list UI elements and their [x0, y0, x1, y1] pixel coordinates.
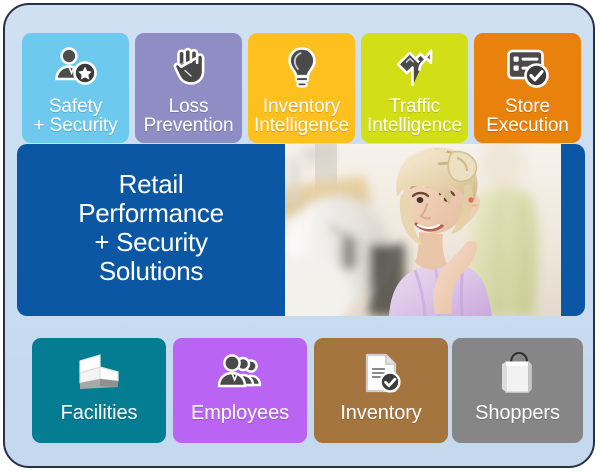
tile-loss-prevention[interactable]: Loss Prevention	[135, 33, 242, 143]
tile-employees[interactable]: Employees	[173, 338, 307, 443]
hero-photo	[285, 144, 561, 316]
tile-label: Safety + Security	[33, 97, 117, 136]
person-star-badge-icon	[51, 42, 101, 94]
checklist-check-icon	[503, 42, 553, 94]
hero-headline-block: Retail Performance + Security Solutions	[17, 144, 285, 316]
tile-shoppers[interactable]: Shoppers	[452, 338, 583, 443]
page-title: Retail Performance + Security Solutions	[78, 170, 224, 290]
stop-hand-icon	[164, 42, 214, 94]
tile-label: Inventory	[340, 403, 421, 423]
document-check-icon	[356, 348, 406, 398]
tile-safety-security[interactable]: Safety + Security	[22, 33, 129, 143]
hero-banner: Retail Performance + Security Solutions	[17, 144, 585, 316]
tile-label: Shoppers	[475, 403, 560, 423]
people-group-icon	[215, 348, 265, 398]
building-icon	[74, 348, 124, 398]
tile-inventory[interactable]: Inventory	[314, 338, 448, 443]
tile-label: Inventory Intelligence	[254, 97, 349, 136]
lightbulb-icon	[277, 42, 327, 94]
solutions-overview-panel: Safety + Security Loss Prevention Invent…	[3, 3, 595, 468]
branching-arrows-icon	[390, 42, 440, 94]
tile-label: Store Execution	[486, 97, 569, 136]
tile-facilities[interactable]: Facilities	[32, 338, 166, 443]
tile-label: Facilities	[61, 403, 138, 423]
tile-inventory-intelligence[interactable]: Inventory Intelligence	[248, 33, 355, 143]
shopping-bag-icon	[493, 348, 543, 398]
tile-traffic-intelligence[interactable]: Traffic Intelligence	[361, 33, 468, 143]
tile-label: Employees	[191, 403, 289, 423]
tile-label: Loss Prevention	[144, 97, 234, 136]
tile-label: Traffic Intelligence	[367, 97, 462, 136]
tile-store-execution[interactable]: Store Execution	[474, 33, 581, 143]
